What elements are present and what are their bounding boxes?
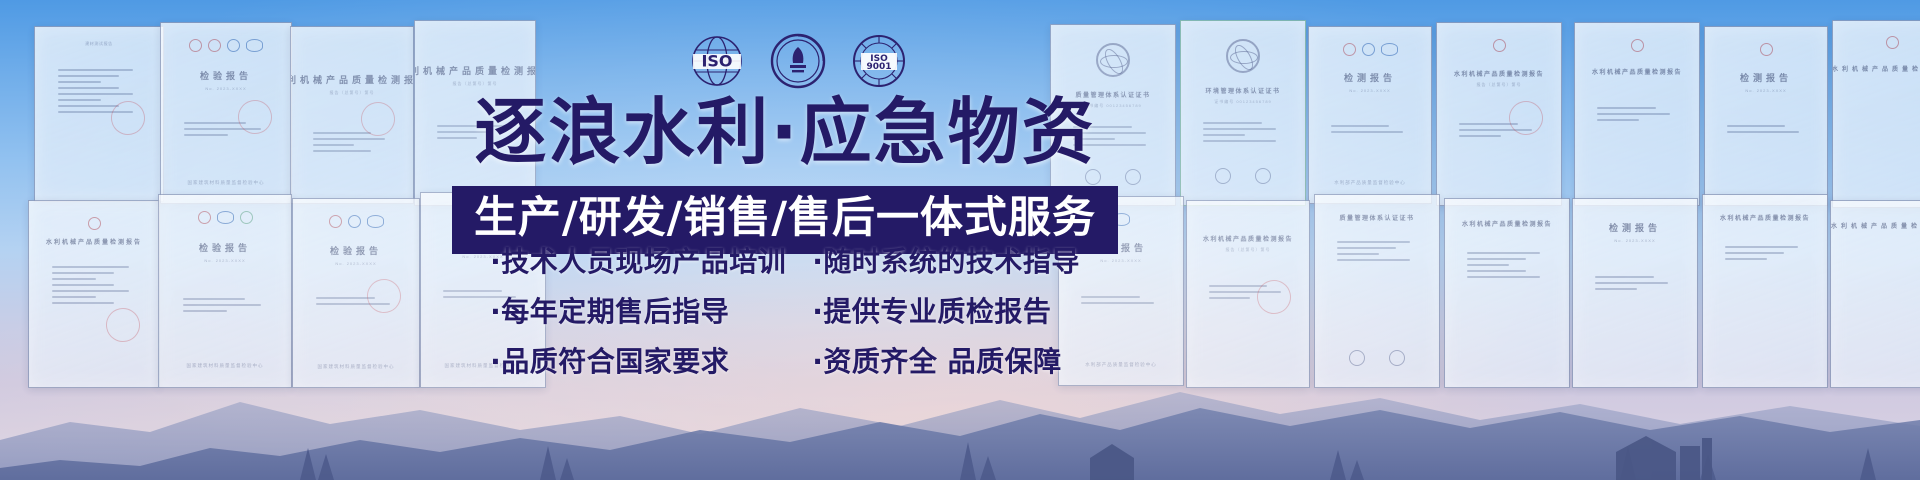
page-title: 逐浪水利·应急物资 bbox=[0, 96, 1570, 168]
feature-bullet-grid: ·技术人员现场产品培训 ·随时系统的技术指导 ·每年定期售后指导 ·提供专业质检… bbox=[490, 248, 1080, 376]
iso-globe-badge-icon: ISO bbox=[690, 34, 744, 88]
banner-content: ISO bbox=[0, 0, 1920, 480]
subtitle-bar: 生产/研发/销售/售后一体式服务 bbox=[452, 186, 1118, 254]
svg-text:ISO: ISO bbox=[701, 52, 732, 71]
iso-9001-badge-icon: ISO 9001 bbox=[852, 34, 906, 88]
feature-bullet: ·每年定期售后指导 bbox=[490, 298, 786, 326]
svg-text:9001: 9001 bbox=[866, 62, 891, 72]
quality-seal-badge-icon bbox=[770, 33, 826, 89]
feature-bullet: ·技术人员现场产品培训 bbox=[490, 248, 786, 276]
promotional-banner: 建材测试报告 bbox=[0, 0, 1920, 480]
feature-bullet: ·资质齐全 品质保障 bbox=[812, 348, 1080, 376]
subtitle-bar-wrapper: 生产/研发/销售/售后一体式服务 bbox=[0, 186, 1570, 254]
iso-badge-row: ISO bbox=[690, 33, 906, 89]
feature-bullet: ·随时系统的技术指导 bbox=[812, 248, 1080, 276]
feature-bullet: ·品质符合国家要求 bbox=[490, 348, 786, 376]
feature-bullet: ·提供专业质检报告 bbox=[812, 298, 1080, 326]
feature-bullets: ·技术人员现场产品培训 ·随时系统的技术指导 ·每年定期售后指导 ·提供专业质检… bbox=[0, 248, 1570, 376]
